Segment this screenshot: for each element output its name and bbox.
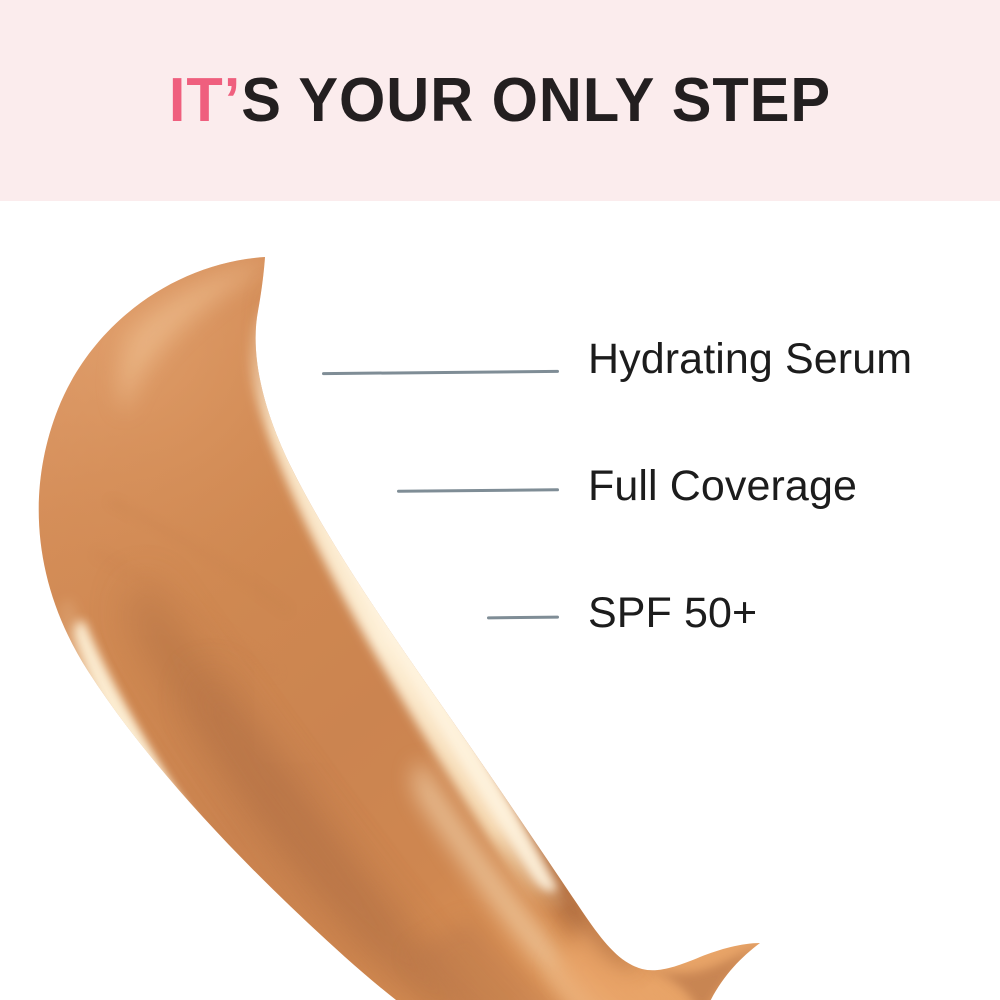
poster-canvas: IT’S YOUR ONLY STEP (0, 0, 1000, 1000)
page-title-accent: IT’ (169, 70, 241, 132)
foundation-swatch-illustration (0, 201, 1000, 1000)
callout-label-hydrating-serum: Hydrating Serum (588, 338, 912, 381)
page-title-rest: S YOUR ONLY STEP (241, 70, 831, 132)
callout-label-spf-50-plus: SPF 50+ (588, 592, 757, 635)
callout-label-full-coverage: Full Coverage (588, 465, 857, 508)
page-title: IT’S YOUR ONLY STEP (20, 0, 980, 201)
foundation-swatch-svg (0, 201, 1000, 1000)
